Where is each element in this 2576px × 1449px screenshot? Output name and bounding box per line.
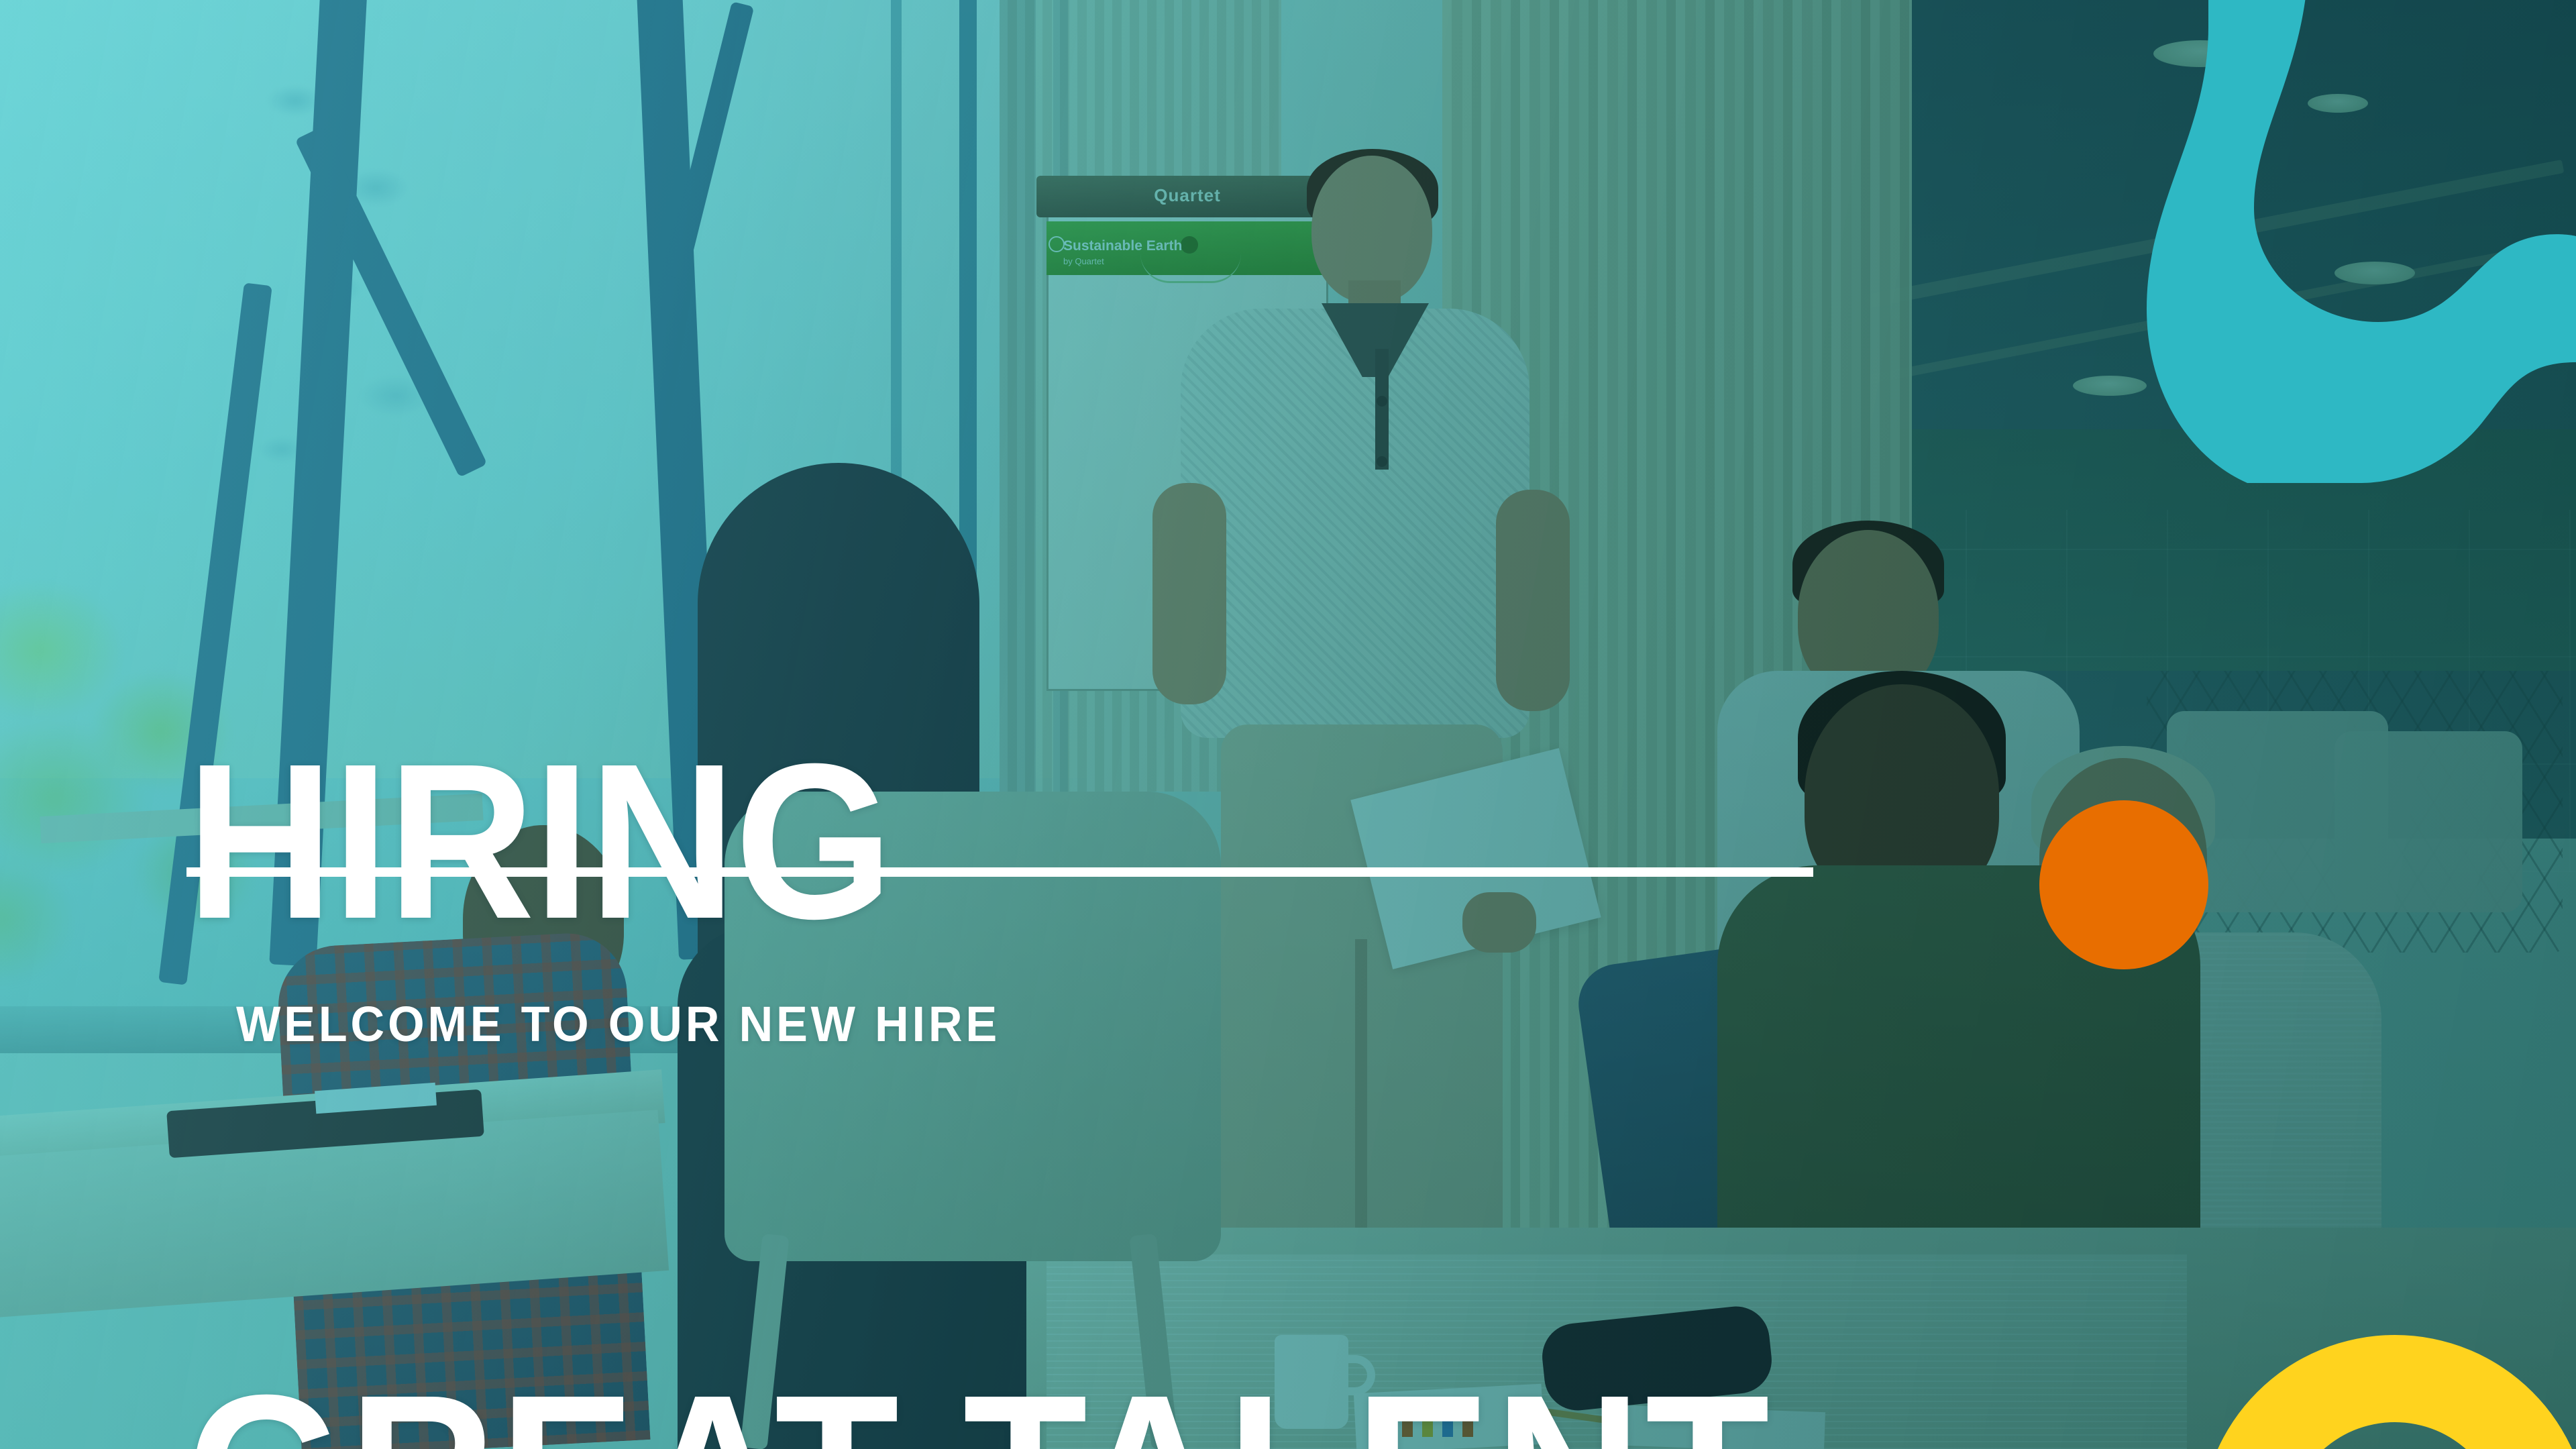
divider-rule [186,867,1813,877]
headline-line-1: HIRING [186,736,892,947]
page-title: HIRING GREAT TALENT [186,315,892,1449]
headline-line-2: GREAT TALENT [186,1367,242,1386]
hiring-banner: Quartet Sustainable Earth by Quartet [0,0,2576,1449]
subtitle: WELCOME TO OUR NEW HIRE [236,996,1000,1053]
orange-circle-icon [2039,800,2208,969]
